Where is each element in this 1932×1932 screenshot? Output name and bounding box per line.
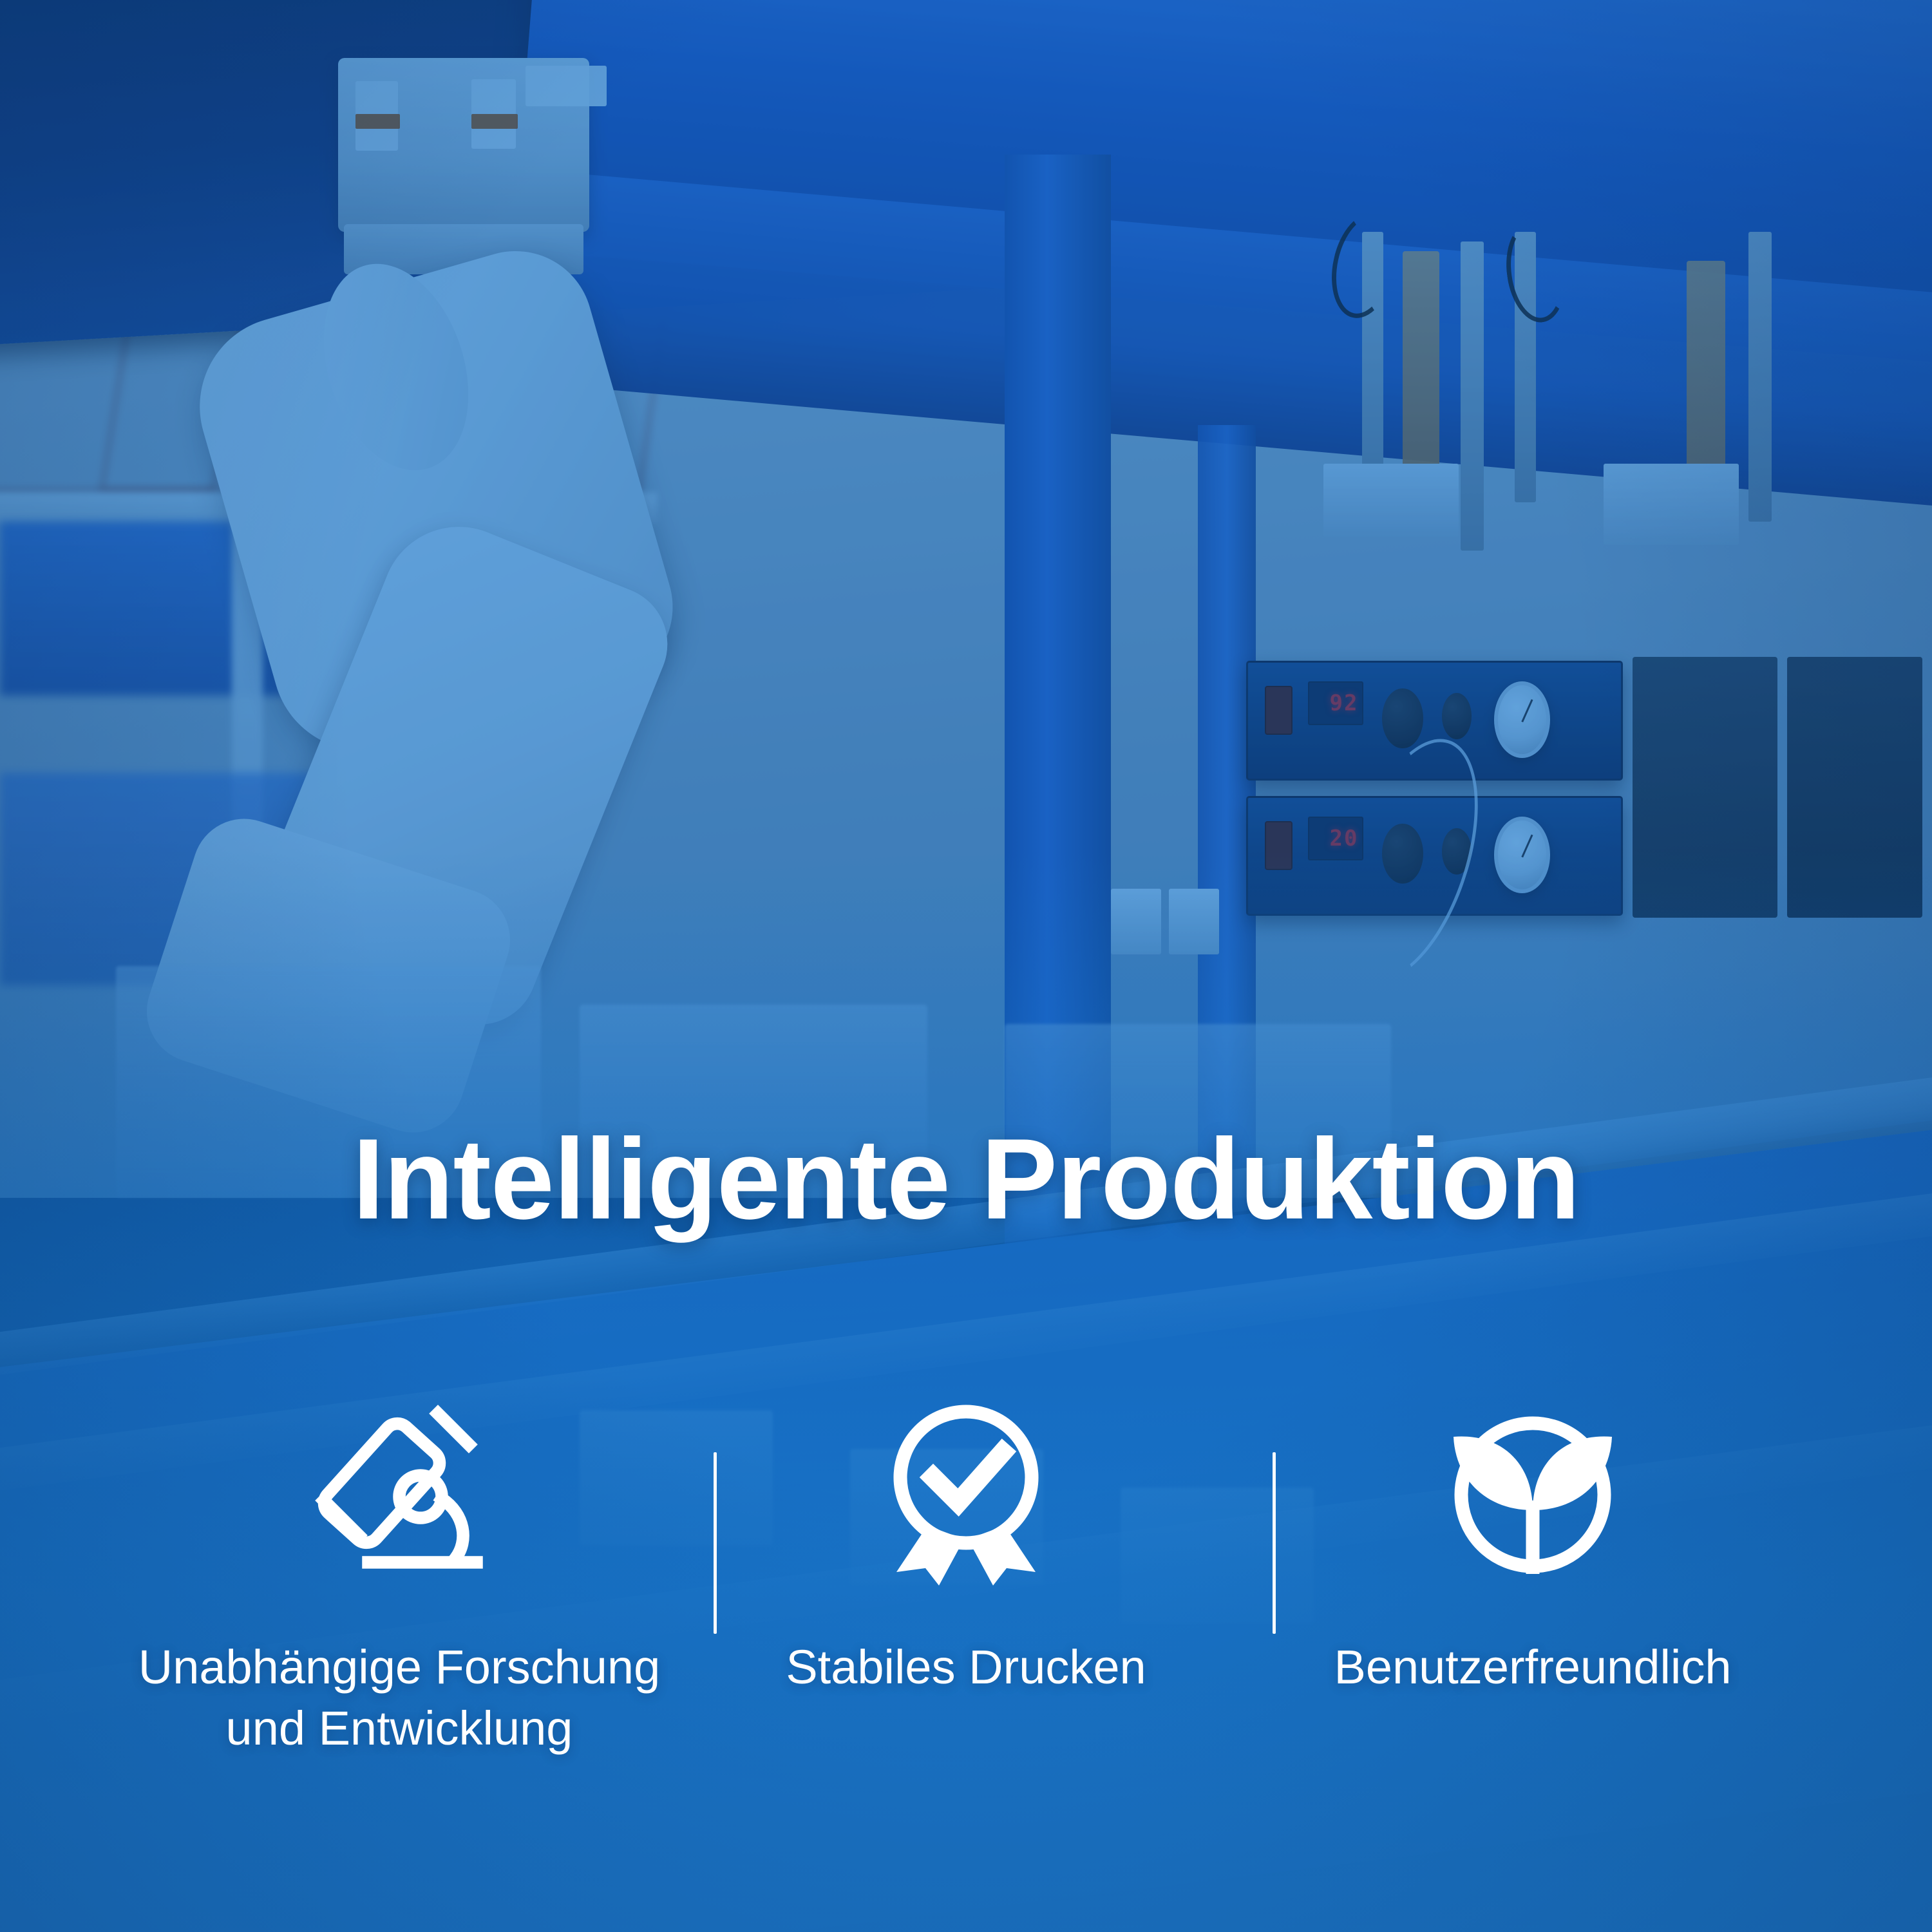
microscope-icon [296, 1385, 502, 1597]
feature-caption: Stabiles Drucken [786, 1637, 1146, 1698]
overlay-content: Intelligente Produktion [0, 0, 1932, 1932]
feature-caption-line1: Benutzerfreundlich [1334, 1640, 1731, 1694]
feature-caption-line1: Unabhängige Forschung [138, 1640, 660, 1694]
quality-badge-check-icon [863, 1385, 1069, 1597]
feature-caption-line2: und Entwicklung [226, 1701, 573, 1755]
sprout-circle-icon [1430, 1385, 1636, 1597]
feature-list: Unabhängige Forschung und Entwicklung [0, 1385, 1932, 1810]
feature-caption-line1: Stabiles Drucken [786, 1640, 1146, 1694]
page-title: Intelligente Produktion [0, 1122, 1932, 1236]
feature-caption: Benutzerfreundlich [1334, 1637, 1731, 1698]
feature-caption: Unabhängige Forschung und Entwicklung [138, 1637, 660, 1759]
feature-item-stable-printing: Stabiles Drucken [683, 1385, 1249, 1698]
feature-item-research: Unabhängige Forschung und Entwicklung [116, 1385, 683, 1759]
promo-banner: 92 20 [0, 0, 1932, 1932]
feature-item-user-friendly: Benutzerfreundlich [1249, 1385, 1816, 1698]
